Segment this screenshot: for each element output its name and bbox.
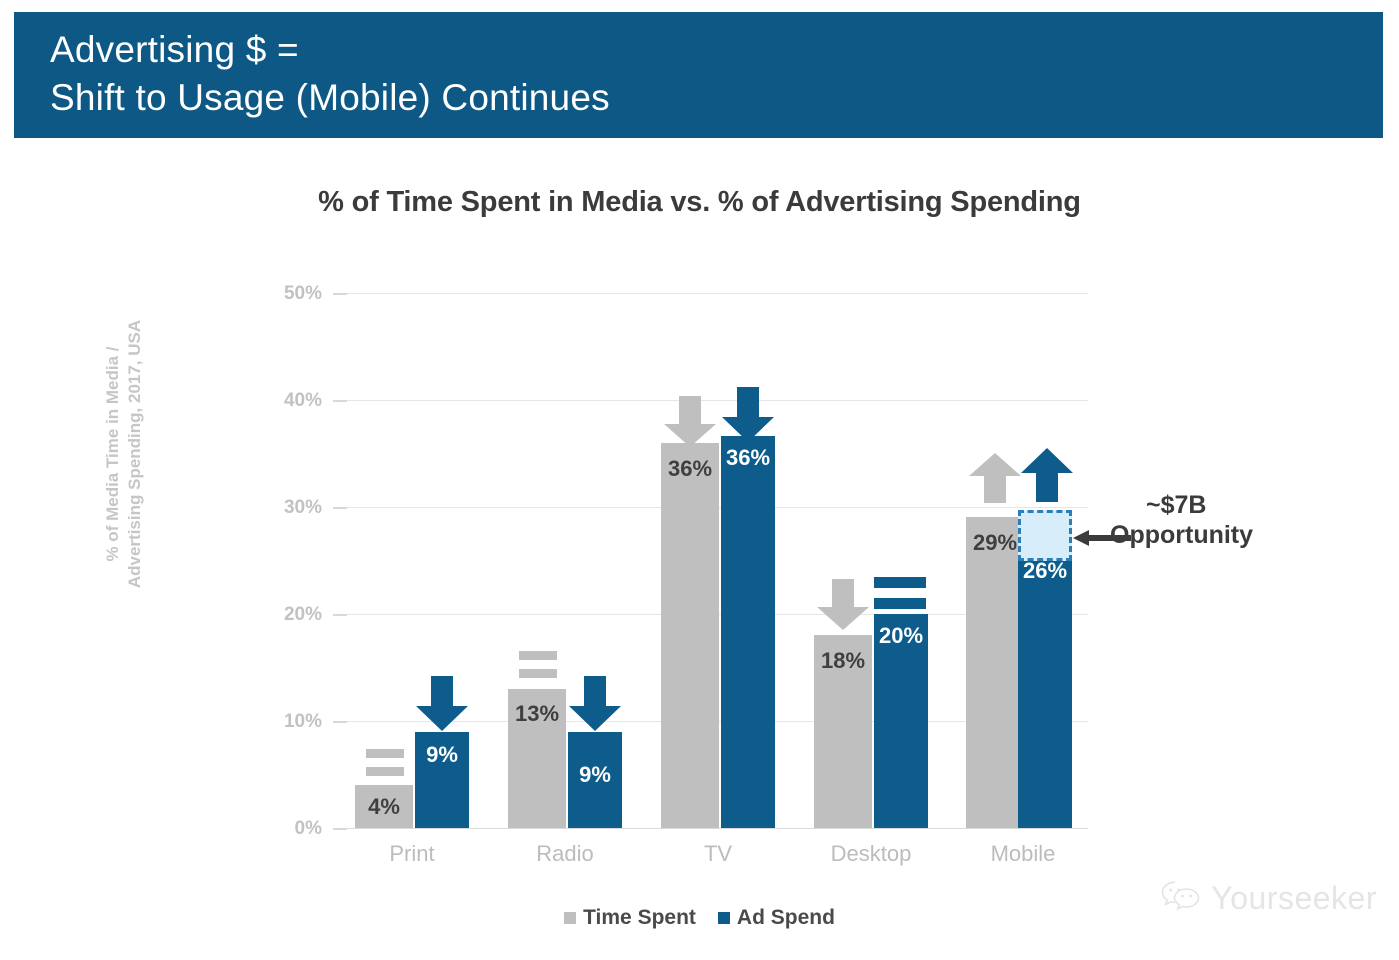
bar-radio-time-spent[interactable]: 13% xyxy=(508,689,566,828)
opportunity-amount: ~$7B xyxy=(1110,490,1330,520)
bar-mobile-ad-spend[interactable]: 26% xyxy=(1018,550,1072,828)
arrow-down-icon-radio-ad-spend xyxy=(568,676,622,732)
bar-value-mobile-ad-spend: 26% xyxy=(1018,558,1072,584)
xtick-label-mobile: Mobile xyxy=(966,841,1080,867)
gridline-0 xyxy=(333,828,1088,829)
equal-icon-radio-time-spent xyxy=(519,651,557,681)
ytick-dash-50 xyxy=(333,293,347,295)
xtick-label-tv: TV xyxy=(661,841,775,867)
gridline-50 xyxy=(333,293,1088,294)
xtick-label-desktop: Desktop xyxy=(814,841,928,867)
equal-icon-desktop-ad-spend xyxy=(874,577,926,609)
bar-desktop-ad-spend[interactable]: 20% xyxy=(874,614,928,828)
wechat-icon xyxy=(1161,879,1201,918)
ytick-dash-40 xyxy=(333,400,347,402)
arrow-down-icon-tv-ad-spend xyxy=(721,387,775,443)
ytick-label-40: 40% xyxy=(262,390,322,412)
ytick-label-0: 0% xyxy=(262,818,322,840)
bar-value-print-time-spent: 4% xyxy=(355,794,413,820)
arrow-up-icon-mobile-time-spent xyxy=(968,452,1022,504)
bar-print-ad-spend[interactable]: 9% xyxy=(415,732,469,828)
bar-tv-ad-spend[interactable]: 36% xyxy=(721,436,775,828)
legend-swatch-ad-spend xyxy=(718,912,730,924)
legend-item-time-spent[interactable]: Time Spent xyxy=(564,906,696,930)
opportunity-label: Opportunity xyxy=(1110,520,1330,550)
watermark-text: Yourseeker xyxy=(1211,880,1377,917)
legend-item-ad-spend[interactable]: Ad Spend xyxy=(718,906,835,930)
bar-desktop-time-spent[interactable]: 18% xyxy=(814,635,872,828)
ytick-label-50: 50% xyxy=(262,283,322,305)
arrow-up-icon-mobile-ad-spend xyxy=(1020,447,1074,503)
bar-value-radio-ad-spend: 9% xyxy=(568,762,622,788)
opportunity-annotation: ~$7B Opportunity xyxy=(1110,490,1330,550)
arrow-down-icon-desktop-time-spent xyxy=(816,579,870,631)
xtick-label-print: Print xyxy=(355,841,469,867)
y-axis-title-line-1: % of Media Time in Media / xyxy=(102,289,124,619)
ytick-dash-20 xyxy=(333,614,347,616)
y-axis-title: % of Media Time in Media / Advertising S… xyxy=(102,289,146,619)
bar-value-radio-time-spent: 13% xyxy=(508,701,566,727)
bar-value-mobile-time-spent: 29% xyxy=(966,530,1024,556)
watermark: Yourseeker xyxy=(1161,879,1377,918)
arrow-down-icon-print-ad-spend xyxy=(415,676,469,732)
equal-icon-print-time-spent xyxy=(366,749,404,779)
xtick-label-radio: Radio xyxy=(508,841,622,867)
ytick-dash-10 xyxy=(333,721,347,723)
ytick-dash-30 xyxy=(333,507,347,509)
bar-chart-plot-area: 50% 40% 30% 20% 10% 0% % of Media Time i… xyxy=(0,0,1399,960)
bar-print-time-spent[interactable]: 4% xyxy=(355,785,413,828)
legend-swatch-time-spent xyxy=(564,912,576,924)
bar-value-desktop-time-spent: 18% xyxy=(814,648,872,674)
bar-mobile-time-spent[interactable]: 29% xyxy=(966,517,1024,828)
ytick-label-20: 20% xyxy=(262,604,322,626)
ytick-dash-0 xyxy=(333,828,347,830)
ytick-label-30: 30% xyxy=(262,497,322,519)
opportunity-box[interactable] xyxy=(1018,510,1072,561)
ytick-label-10: 10% xyxy=(262,711,322,733)
legend-label-time-spent: Time Spent xyxy=(583,906,696,930)
bar-value-tv-time-spent: 36% xyxy=(661,456,719,482)
bar-value-desktop-ad-spend: 20% xyxy=(874,623,928,649)
bar-value-print-ad-spend: 9% xyxy=(415,742,469,768)
bar-radio-ad-spend[interactable]: 9% xyxy=(568,732,622,828)
y-axis-title-line-2: Advertising Spending, 2017, USA xyxy=(124,289,146,619)
bar-value-tv-ad-spend: 36% xyxy=(721,445,775,471)
legend-label-ad-spend: Ad Spend xyxy=(737,906,835,930)
arrow-down-icon-tv-time-spent xyxy=(663,396,717,448)
bar-tv-time-spent[interactable]: 36% xyxy=(661,443,719,828)
